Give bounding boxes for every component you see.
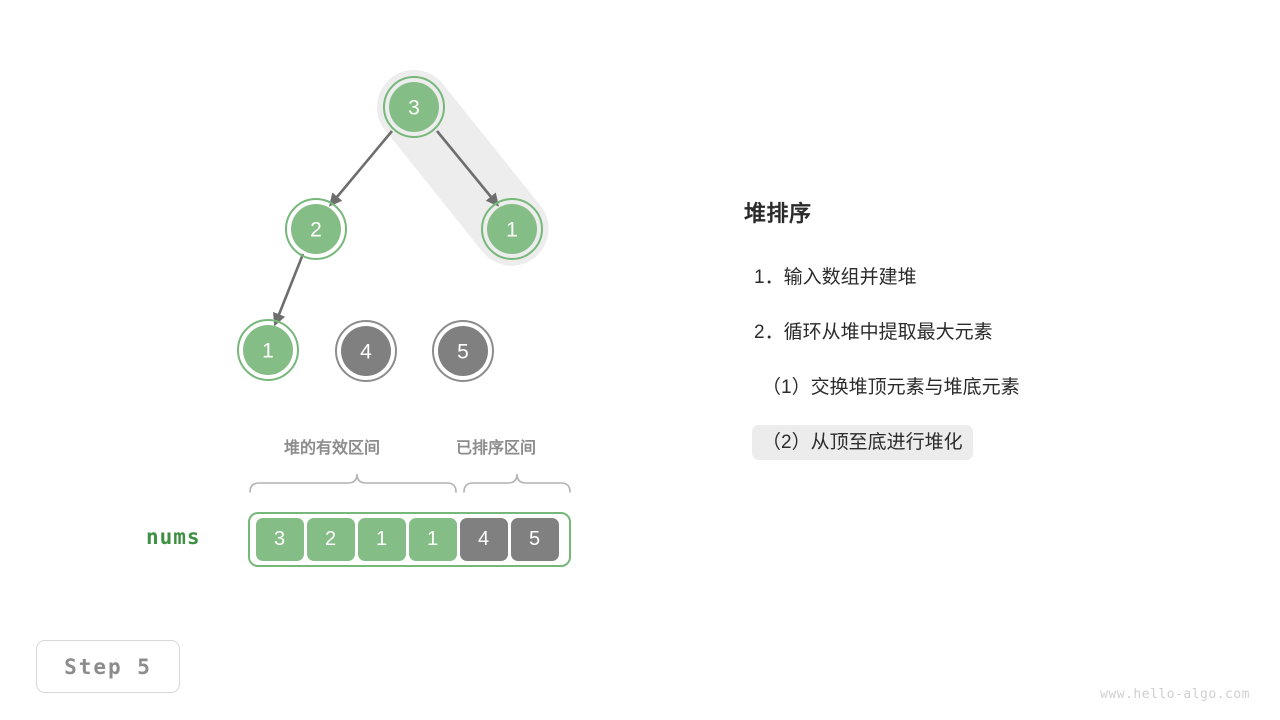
sorted-region-label: 已排序区间 <box>456 434 536 458</box>
tree-node-leftleft[interactable]: 1 <box>238 320 298 380</box>
algorithm-step-2[interactable]: 2．循环从堆中提取最大元素 <box>744 315 1003 350</box>
nums-array: 3 2 1 1 4 5 <box>248 512 571 567</box>
algorithm-step-2-1[interactable]: （1）交换堆顶元素与堆底元素 <box>752 370 1030 405</box>
tree-node-sorted-5-label: 5 <box>457 341 469 364</box>
array-cell-0[interactable]: 3 <box>256 518 304 561</box>
tree-node-left[interactable]: 2 <box>286 199 346 259</box>
step-row-2: 2．循环从堆中提取最大元素 <box>744 315 1184 370</box>
edge-root-right <box>437 131 496 203</box>
tree-node-leftleft-label: 1 <box>262 340 274 363</box>
tree-node-root-label: 3 <box>408 97 420 120</box>
heap-region-label: 堆的有效区间 <box>284 434 380 458</box>
edge-left-leftleft <box>276 254 303 322</box>
array-name-label: nums <box>146 525 201 549</box>
algorithm-steps-panel: 堆排序 1．输入数组并建堆 2．循环从堆中提取最大元素 （1）交换堆顶元素与堆底… <box>744 196 1184 480</box>
array-cell-5[interactable]: 5 <box>511 518 559 561</box>
tree-node-sorted-4[interactable]: 4 <box>336 321 396 381</box>
watermark: www.hello-algo.com <box>1100 687 1250 702</box>
page-title: 堆排序 <box>744 196 1184 228</box>
tree-node-right[interactable]: 1 <box>482 199 542 259</box>
tree-node-left-label: 2 <box>310 219 322 242</box>
algorithm-step-1[interactable]: 1．输入数组并建堆 <box>744 260 927 295</box>
highlight-path-capsule <box>362 55 564 281</box>
algorithm-step-2-2[interactable]: （2）从顶至底进行堆化 <box>752 425 973 460</box>
tree-node-right-label: 1 <box>506 219 518 242</box>
edge-root-left <box>332 131 392 203</box>
tree-node-root[interactable]: 3 <box>384 77 444 137</box>
brace-heap-region <box>250 474 456 492</box>
array-cell-1[interactable]: 2 <box>307 518 355 561</box>
tree-edges <box>276 131 496 322</box>
illustration-canvas: 3 2 1 1 4 5 <box>0 0 1280 720</box>
step-badge: Step 5 <box>36 640 180 693</box>
array-cell-4[interactable]: 4 <box>460 518 508 561</box>
array-cell-3[interactable]: 1 <box>409 518 457 561</box>
tree-node-sorted-4-label: 4 <box>360 341 372 364</box>
step-row-2-2: （2）从顶至底进行堆化 <box>744 425 1184 480</box>
tree-node-sorted-5[interactable]: 5 <box>433 321 493 381</box>
step-row-2-1: （1）交换堆顶元素与堆底元素 <box>744 370 1184 425</box>
brace-sorted-region <box>464 474 570 492</box>
step-row-1: 1．输入数组并建堆 <box>744 260 1184 315</box>
array-cell-2[interactable]: 1 <box>358 518 406 561</box>
